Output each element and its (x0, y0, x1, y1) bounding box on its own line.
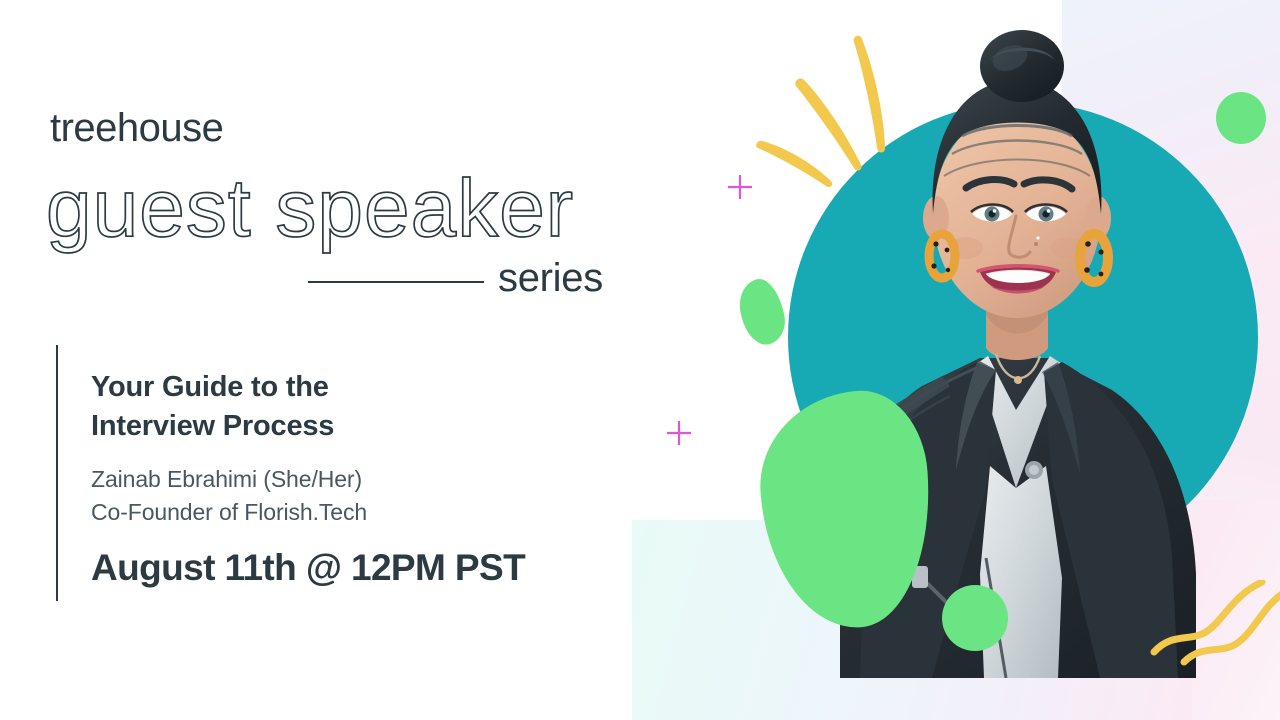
vertical-accent-rule (56, 345, 58, 601)
speaker-role: Co-Founder of Florish.Tech (91, 496, 631, 529)
series-word: series (498, 258, 603, 298)
talk-title: Your Guide to the Interview Process (91, 368, 631, 445)
event-info-block: Your Guide to the Interview Process Zain… (91, 368, 631, 589)
brand-wordmark: treehouse (50, 108, 223, 148)
headline-outline-text: guest speaker (46, 163, 574, 254)
magenta-plus-icon-middle (665, 419, 693, 447)
talk-title-line-1: Your Guide to the (91, 368, 631, 407)
magenta-plus-icon-top (726, 173, 754, 201)
talk-title-line-2: Interview Process (91, 407, 631, 446)
green-blob-small (734, 275, 791, 349)
speaker-name: Zainab Ebrahimi (She/Her) (91, 463, 631, 496)
yellow-wave-lines-icon (1150, 580, 1280, 720)
green-circle-bottom (942, 585, 1008, 651)
headline-guest-speaker: guest speaker (44, 158, 644, 258)
text-column: treehouse guest speaker series Your Guid… (0, 0, 660, 720)
event-datetime: August 11th @ 12PM PST (91, 548, 631, 589)
slide-canvas: treehouse guest speaker series Your Guid… (0, 0, 1280, 720)
series-divider-rule (308, 281, 484, 283)
